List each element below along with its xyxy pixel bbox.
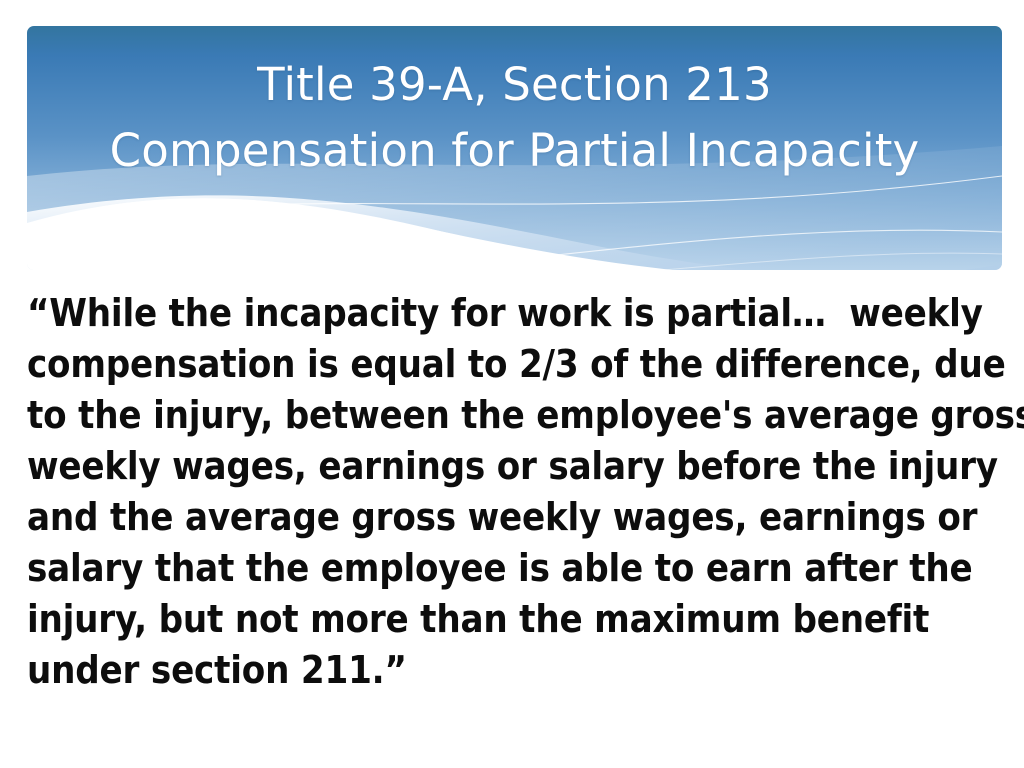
body-text-line: compensation is equal to 2/3 of the diff… [27, 339, 1002, 390]
slide-canvas: Title 39-A, Section 213 Compensation for… [0, 0, 1024, 768]
title-banner: Title 39-A, Section 213 Compensation for… [27, 26, 1002, 270]
body-text-line: weekly wages, earnings or salary before … [27, 441, 1002, 492]
body-text-line: under section 211.” [27, 645, 1002, 696]
body-text-line: and the average gross weekly wages, earn… [27, 492, 1002, 543]
body-text-line: injury, but not more than the maximum be… [27, 594, 1002, 645]
body-text-line: salary that the employee is able to earn… [27, 543, 1002, 594]
page-title: Title 39-A, Section 213 Compensation for… [27, 26, 1002, 184]
body-text-line: “While the incapacity for work is partia… [27, 288, 1002, 339]
body-text-line: to the injury, between the employee's av… [27, 390, 1002, 441]
body-text-block: “While the incapacity for work is partia… [27, 288, 1002, 696]
